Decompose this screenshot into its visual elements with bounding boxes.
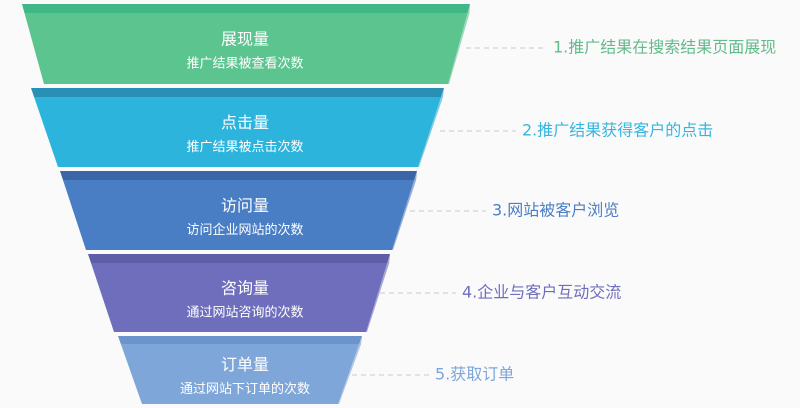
funnel-stage-inquiries[interactable]: 咨询量通过网站咨询的次数: [88, 254, 390, 332]
funnel-stage-clicks[interactable]: 点击量推广结果被点击次数: [31, 88, 444, 167]
stage-title: 点击量: [221, 113, 269, 132]
side-label-group-impressions[interactable]: 1.推广结果在搜索结果页面展现: [466, 38, 776, 57]
funnel-stages: 展现量推广结果被查看次数点击量推广结果被点击次数访问量访问企业网站的次数咨询量通…: [22, 4, 470, 404]
stage-title: 访问量: [221, 196, 269, 215]
stage-subtitle: 通过网站下订单的次数: [180, 381, 310, 397]
funnel-stage-visits[interactable]: 访问量访问企业网站的次数: [60, 171, 417, 250]
funnel-stage-impressions[interactable]: 展现量推广结果被查看次数: [22, 4, 470, 84]
stage-top-band: [22, 4, 470, 13]
side-label-clicks[interactable]: 2.推广结果获得客户的点击: [522, 121, 713, 140]
stage-top-band: [88, 254, 390, 263]
funnel-diagram: 展现量推广结果被查看次数点击量推广结果被点击次数访问量访问企业网站的次数咨询量通…: [0, 0, 800, 408]
stage-title: 订单量: [221, 355, 269, 374]
stage-subtitle: 访问企业网站的次数: [186, 222, 303, 238]
side-label-group-inquiries[interactable]: 4.企业与客户互动交流: [380, 283, 621, 302]
side-label-impressions[interactable]: 1.推广结果在搜索结果页面展现: [553, 38, 776, 57]
side-label-group-clicks[interactable]: 2.推广结果获得客户的点击: [440, 121, 713, 140]
side-label-group-visits[interactable]: 3.网站被客户浏览: [410, 201, 619, 220]
side-label-group-orders[interactable]: 5.获取订单: [352, 365, 514, 384]
side-label-visits[interactable]: 3.网站被客户浏览: [492, 201, 619, 220]
stage-top-band: [60, 171, 417, 180]
side-label-orders[interactable]: 5.获取订单: [435, 365, 514, 384]
side-label-inquiries[interactable]: 4.企业与客户互动交流: [462, 283, 621, 302]
stage-subtitle: 通过网站咨询的次数: [186, 305, 303, 321]
stage-top-band: [118, 336, 362, 344]
funnel-stage-orders[interactable]: 订单量通过网站下订单的次数: [118, 336, 362, 404]
stage-subtitle: 推广结果被点击次数: [186, 139, 303, 155]
stage-body: [24, 13, 467, 84]
stage-subtitle: 推广结果被查看次数: [186, 56, 303, 72]
stage-body: [91, 263, 387, 332]
stage-title: 咨询量: [221, 279, 269, 298]
stage-top-band: [31, 88, 444, 97]
stage-title: 展现量: [221, 30, 269, 49]
stage-body: [34, 97, 441, 167]
funnel-canvas: 展现量推广结果被查看次数点击量推广结果被点击次数访问量访问企业网站的次数咨询量通…: [0, 0, 800, 408]
stage-body: [63, 180, 414, 250]
